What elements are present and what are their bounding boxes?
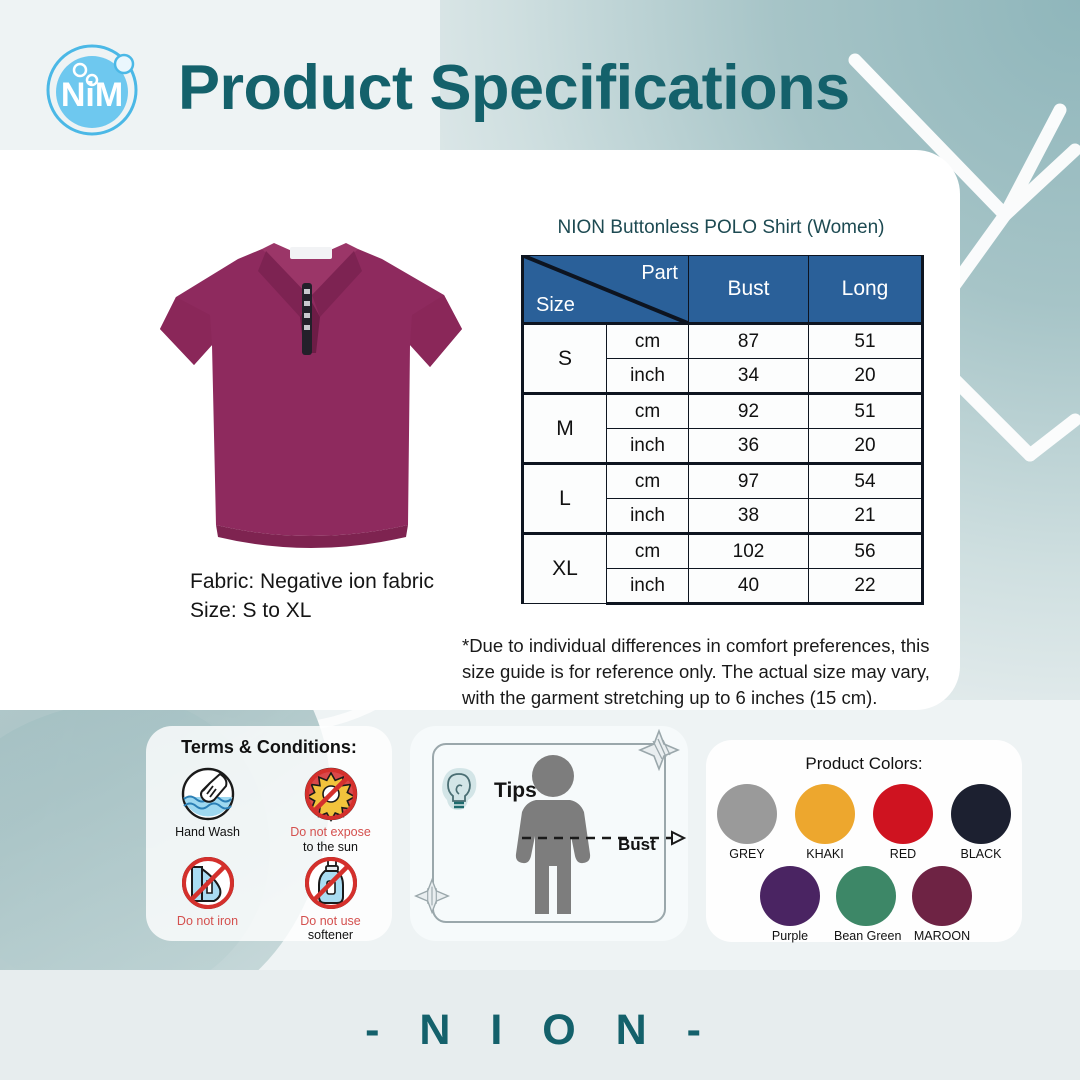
bust-cm-l: 97: [689, 464, 809, 499]
swatch-label: GREY: [715, 847, 779, 861]
table-row: L cm 97 54: [523, 464, 923, 499]
unit-inch: inch: [607, 359, 689, 394]
color-swatch-red[interactable]: RED: [871, 784, 935, 861]
size-label-m: M: [523, 394, 607, 464]
logo-text: NiM: [61, 76, 123, 114]
table-row: S cm 87 51: [523, 324, 923, 359]
color-swatch-grey[interactable]: GREY: [715, 784, 779, 861]
swatch-label: Purple: [758, 929, 822, 943]
care-item-no-sun: Do not expose to the sun: [269, 766, 392, 855]
long-inch-l: 21: [809, 499, 923, 534]
size-table-corner-cell: Part Size: [523, 256, 689, 324]
color-swatch-bean-green[interactable]: Bean Green: [834, 866, 898, 943]
swatch-label: RED: [871, 847, 935, 861]
unit-cm: cm: [607, 464, 689, 499]
color-swatch-purple[interactable]: Purple: [758, 866, 822, 943]
terms-title: Terms & Conditions:: [146, 737, 392, 758]
care-line-1: Do not iron: [177, 914, 238, 928]
fabric-line: Fabric: Negative ion fabric: [190, 568, 434, 597]
swatch-dot: [836, 866, 896, 926]
unit-inch: inch: [607, 429, 689, 464]
no-sun-icon: [303, 766, 359, 822]
swatch-label: BLACK: [949, 847, 1013, 861]
page-title: Product Specifications: [178, 52, 850, 124]
care-item-no-softener: Do not use softener: [269, 855, 392, 944]
size-label-l: L: [523, 464, 607, 534]
page-footer: - N I O N -: [0, 980, 1080, 1080]
nim-atom-logo: NiM: [36, 34, 148, 146]
long-inch-xl: 22: [809, 569, 923, 604]
size-table-title: NION Buttonless POLO Shirt (Women): [521, 217, 921, 239]
color-swatch-khaki[interactable]: KHAKI: [793, 784, 857, 861]
bust-cm-xl: 102: [689, 534, 809, 569]
corner-size-label: Size: [536, 294, 575, 317]
long-cm-l: 54: [809, 464, 923, 499]
swatch-label: KHAKI: [793, 847, 857, 861]
bust-inch-m: 36: [689, 429, 809, 464]
bust-inch-l: 38: [689, 499, 809, 534]
color-swatch-row-2: Purple Bean Green MAROON: [706, 866, 1022, 943]
fabric-info: Fabric: Negative ion fabric Size: S to X…: [190, 568, 434, 626]
sparkle-icon: [414, 878, 450, 914]
bust-inch-xl: 40: [689, 569, 809, 604]
size-disclaimer: *Due to individual differences in comfor…: [462, 633, 932, 711]
swatch-dot: [912, 866, 972, 926]
care-item-no-iron: Do not iron: [146, 855, 269, 944]
terms-conditions-card: Terms & Conditions: Hand Wash: [146, 726, 392, 941]
sparkle-icon: [638, 729, 680, 771]
size-table: Part Size Bust Long S cm 87 51 inch 34 2…: [521, 255, 924, 605]
care-label-no-iron: Do not iron: [146, 914, 269, 929]
care-line-2: to the sun: [303, 840, 358, 854]
care-line-2: softener: [308, 928, 353, 942]
care-label-hand-wash: Hand Wash: [146, 825, 269, 840]
lightbulb-icon: [432, 764, 486, 818]
swatch-label: MAROON: [910, 929, 974, 943]
column-header-long: Long: [809, 256, 923, 324]
care-line-1: Hand Wash: [175, 825, 240, 839]
unit-inch: inch: [607, 569, 689, 604]
tips-card: Tips Bust: [410, 726, 688, 941]
color-swatch-maroon[interactable]: MAROON: [910, 866, 974, 943]
care-line-1: Do not use: [300, 914, 360, 928]
size-range-line: Size: S to XL: [190, 597, 434, 626]
swatch-dot: [873, 784, 933, 844]
long-cm-s: 51: [809, 324, 923, 359]
bust-inch-s: 34: [689, 359, 809, 394]
swatch-dot: [760, 866, 820, 926]
swatch-dot: [951, 784, 1011, 844]
unit-cm: cm: [607, 324, 689, 359]
footer-brand: - N I O N -: [365, 1006, 715, 1055]
unit-inch: inch: [607, 499, 689, 534]
product-colors-title: Product Colors:: [706, 754, 1022, 774]
size-label-s: S: [523, 324, 607, 394]
corner-part-label: Part: [641, 262, 678, 285]
bust-measure-arrow: [520, 826, 696, 850]
swatch-dot: [795, 784, 855, 844]
no-iron-icon: [180, 855, 236, 911]
swatch-dot: [717, 784, 777, 844]
long-cm-m: 51: [809, 394, 923, 429]
care-symbols-grid: Hand Wash Do not expose to the sun: [146, 766, 392, 943]
long-inch-s: 20: [809, 359, 923, 394]
color-swatch-black[interactable]: BLACK: [949, 784, 1013, 861]
bust-cm-m: 92: [689, 394, 809, 429]
care-label-no-sun: Do not expose to the sun: [269, 825, 392, 855]
unit-cm: cm: [607, 534, 689, 569]
product-colors-card: Product Colors: GREY KHAKI RED BLACK Pur…: [706, 740, 1022, 942]
unit-cm: cm: [607, 394, 689, 429]
table-row: M cm 92 51: [523, 394, 923, 429]
care-label-no-softener: Do not use softener: [269, 914, 392, 944]
table-row: XL cm 102 56: [523, 534, 923, 569]
color-swatch-row-1: GREY KHAKI RED BLACK: [706, 784, 1022, 861]
long-cm-xl: 56: [809, 534, 923, 569]
swatch-label: Bean Green: [834, 929, 898, 943]
care-item-hand-wash: Hand Wash: [146, 766, 269, 855]
care-line-1: Do not expose: [290, 825, 371, 839]
long-inch-m: 20: [809, 429, 923, 464]
no-softener-icon: [303, 855, 359, 911]
size-label-xl: XL: [523, 534, 607, 604]
hand-wash-icon: [180, 766, 236, 822]
bust-measure-label: Bust: [618, 835, 656, 855]
product-photo-polo-shirt: [150, 225, 470, 555]
size-table-header-row: Part Size Bust Long: [523, 256, 923, 324]
column-header-bust: Bust: [689, 256, 809, 324]
page-header: NiM Product Specifications: [0, 0, 1080, 150]
bust-cm-s: 87: [689, 324, 809, 359]
